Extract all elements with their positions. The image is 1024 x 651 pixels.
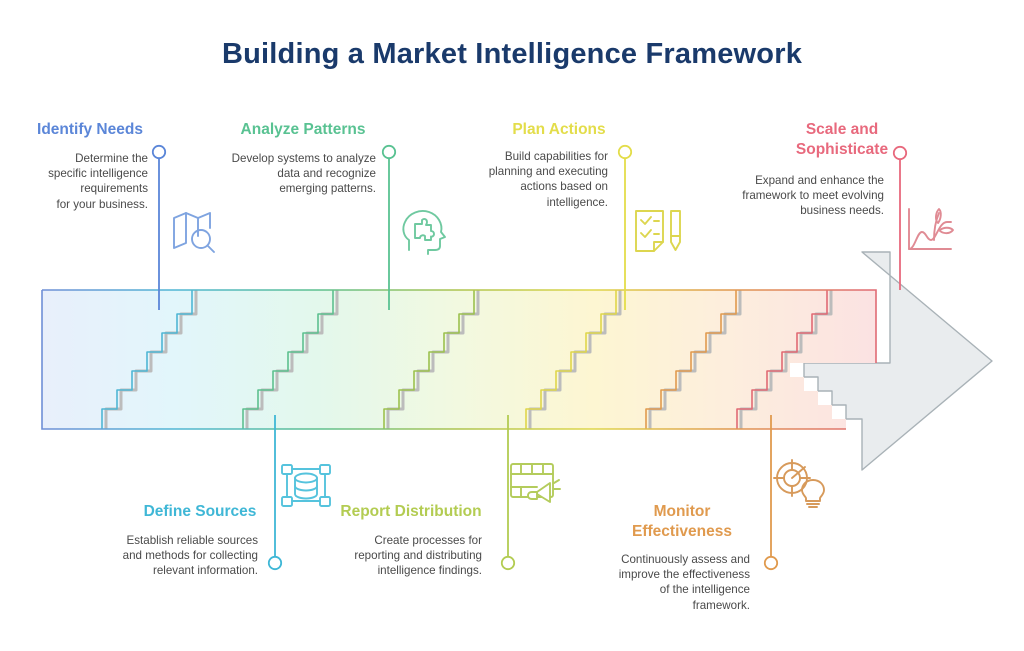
broadcast-megaphone-icon	[507, 459, 565, 512]
head-puzzle-icon	[398, 206, 450, 261]
staircase-dividers	[247, 290, 831, 429]
step-label-monitor-effectiveness: Monitor Effectiveness	[614, 502, 750, 542]
arrow-body	[42, 290, 876, 429]
arrow-head	[804, 252, 992, 470]
step-desc-plan-actions: Build capabilities for planning and exec…	[440, 149, 608, 210]
step-desc-monitor-effectiveness: Continuously assess and improve the effe…	[570, 552, 750, 613]
step-desc-identify-needs: Determine the specific intelligence requ…	[0, 151, 148, 212]
map-search-icon	[168, 206, 222, 261]
connector-top-analyze-patterns	[383, 146, 395, 310]
page-title: Building a Market Intelligence Framework	[0, 38, 1024, 71]
step-label-analyze-patterns: Analyze Patterns	[208, 120, 398, 140]
connector-top-identify-needs	[153, 146, 165, 310]
infographic-canvas: Building a Market Intelligence Framework	[0, 0, 1024, 651]
step-label-identify-needs: Identify Needs	[0, 120, 180, 140]
staircase-dividers-colored	[243, 290, 827, 429]
step-desc-analyze-patterns: Develop systems to analyze data and reco…	[180, 151, 376, 197]
step-label-define-sources: Define Sources	[110, 502, 290, 522]
step-label-scale-and-sophisticate: Scale and Sophisticate	[750, 120, 934, 160]
step-desc-scale-and-sophisticate: Expand and enhance the framework to meet…	[700, 173, 884, 219]
plant-growth-icon	[903, 206, 957, 259]
staircase-intermediate-colored	[102, 290, 736, 429]
step-desc-report-distribution: Create processes for reporting and distr…	[300, 533, 482, 579]
arrow-body-outline	[42, 290, 876, 429]
step-desc-define-sources: Establish reliable sources and methods f…	[62, 533, 258, 579]
checklist-pen-icon	[630, 206, 686, 261]
step-label-report-distribution: Report Distribution	[326, 502, 496, 522]
target-bulb-icon	[770, 459, 826, 516]
step-label-plan-actions: Plan Actions	[470, 120, 648, 140]
staircase-intermediate	[106, 290, 740, 429]
